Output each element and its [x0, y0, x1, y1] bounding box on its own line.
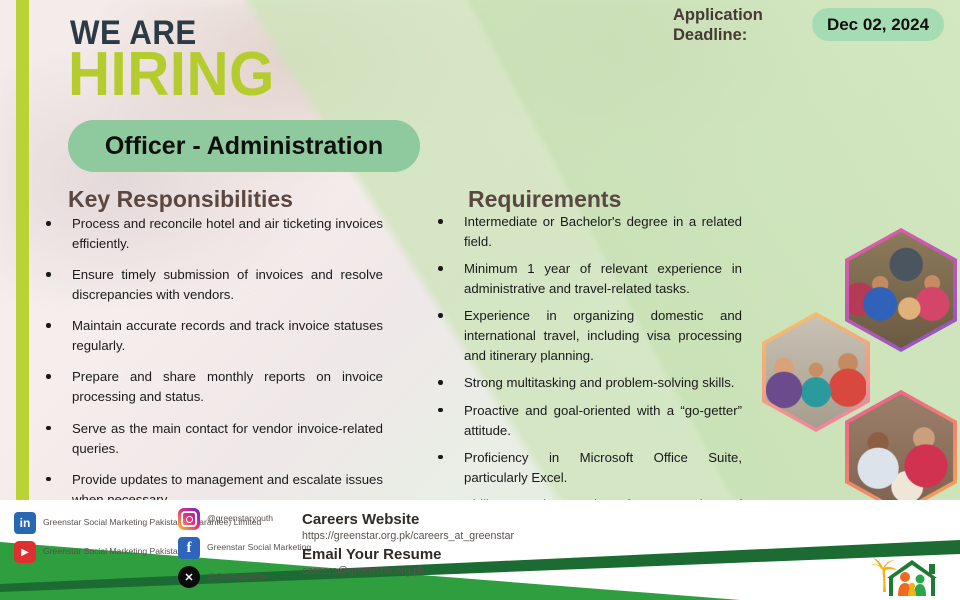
- social-column-right: @greenstaryouth f Greenstar Social Marke…: [178, 508, 311, 595]
- requirements-list: Intermediate or Bachelor's degree in a r…: [430, 212, 742, 542]
- job-title-pill: Officer - Administration: [68, 120, 420, 172]
- linkedin-glyph: in: [20, 516, 31, 530]
- list-item: Proficiency in Microsoft Office Suite, p…: [430, 448, 742, 488]
- list-item: Ensure timely submission of invoices and…: [38, 265, 383, 305]
- list-item: Maintain accurate records and track invo…: [38, 316, 383, 356]
- application-deadline-badge: Dec 02, 2024: [812, 8, 944, 41]
- careers-email[interactable]: careers@greenstar.org.pk: [302, 565, 514, 577]
- list-item: Prepare and share monthly reports on inv…: [38, 367, 383, 407]
- linkedin-icon: in: [14, 512, 36, 534]
- social-x[interactable]: ✕ @GreenstarPak: [178, 566, 311, 588]
- family-figures-icon: [898, 572, 926, 596]
- application-deadline-date: Dec 02, 2024: [827, 15, 929, 35]
- photo-hexagon-inner: [849, 232, 953, 348]
- social-facebook[interactable]: f Greenstar Social Marketing: [178, 537, 311, 559]
- photo-image: [849, 394, 953, 510]
- hiring-text: HIRING: [68, 44, 275, 106]
- careers-website-url[interactable]: https://greenstar.org.pk/careers_at_gree…: [302, 530, 514, 542]
- list-item: Minimum 1 year of relevant experience in…: [430, 259, 742, 299]
- list-item: Intermediate or Bachelor's degree in a r…: [430, 212, 742, 252]
- x-glyph: ✕: [184, 571, 193, 584]
- social-youtube-label: Greenstar Social Marketing Pakistan: [43, 546, 182, 557]
- youtube-icon: ▶: [14, 541, 36, 563]
- application-deadline-label: Application Deadline:: [673, 5, 803, 45]
- list-item: Process and reconcile hotel and air tick…: [38, 214, 383, 254]
- photo-image: [766, 316, 866, 428]
- careers-block: Careers Website https://greenstar.org.pk…: [302, 511, 514, 581]
- photo-hexagon-inner: [849, 394, 953, 510]
- social-facebook-label: Greenstar Social Marketing: [207, 542, 311, 553]
- job-title-text: Officer - Administration: [105, 132, 383, 161]
- social-instagram-label: @greenstaryouth: [207, 513, 273, 524]
- requirements-heading: Requirements: [468, 186, 621, 213]
- photo-hexagon-inner: [766, 316, 866, 428]
- responsibilities-heading: Key Responsibilities: [68, 186, 293, 213]
- careers-website-label: Careers Website: [302, 511, 514, 528]
- greenstar-logo: [865, 552, 951, 596]
- youtube-glyph: ▶: [21, 547, 29, 558]
- social-x-label: @GreenstarPak: [207, 571, 269, 582]
- list-item: Strong multitasking and problem-solving …: [430, 373, 742, 393]
- photo-image: [849, 232, 953, 348]
- instagram-icon: [178, 508, 200, 530]
- list-item: Proactive and goal-oriented with a “go-g…: [430, 401, 742, 441]
- job-poster: WE ARE HIRING Officer - Administration A…: [0, 0, 960, 600]
- list-item: Serve as the main contact for vendor inv…: [38, 419, 383, 459]
- email-resume-label: Email Your Resume: [302, 546, 514, 563]
- facebook-icon: f: [178, 537, 200, 559]
- x-twitter-icon: ✕: [178, 566, 200, 588]
- social-instagram[interactable]: @greenstaryouth: [178, 508, 311, 530]
- instagram-glyph: [181, 511, 197, 527]
- list-item: Experience in organizing domestic and in…: [430, 306, 742, 366]
- facebook-glyph: f: [187, 540, 192, 557]
